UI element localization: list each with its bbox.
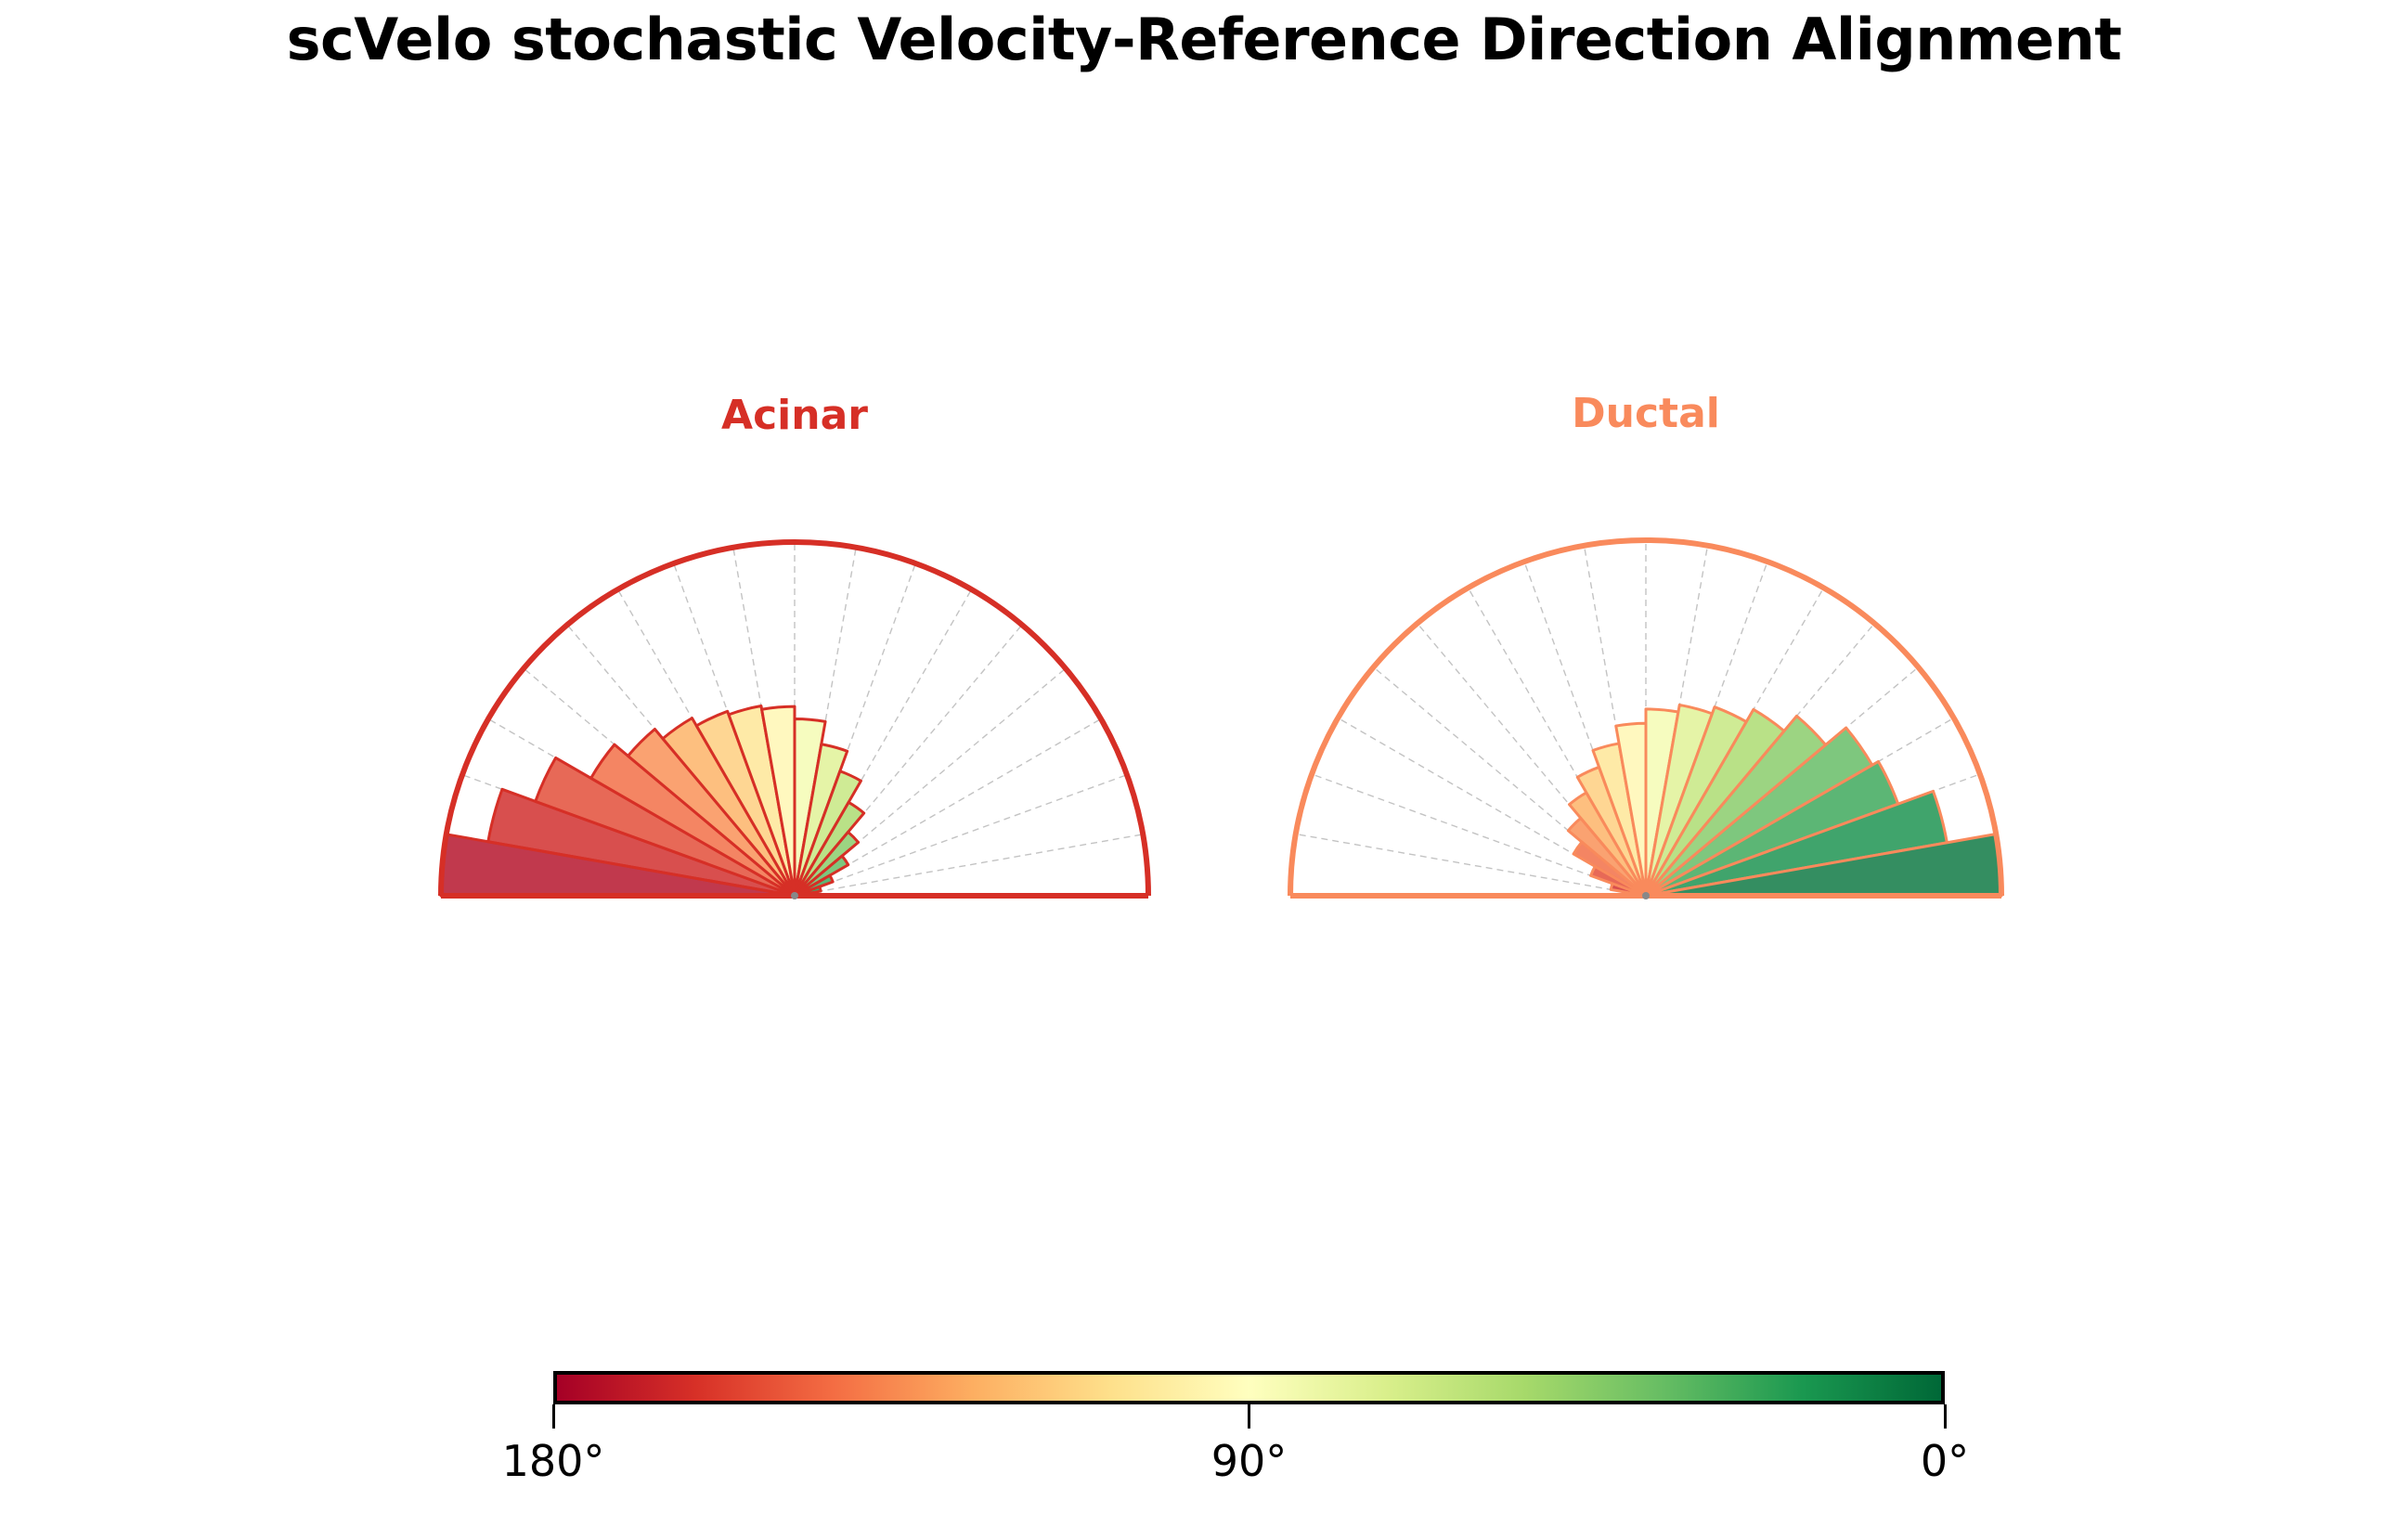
panel-title-acinar: Acinar xyxy=(404,392,1185,439)
figure-canvas: scVelo stochastic Velocity-Reference Dir… xyxy=(0,0,2408,1526)
colorbar-tick-mark xyxy=(552,1404,555,1429)
panel-title-ductal: Ductal xyxy=(1253,390,2039,437)
colorbar-tick-mark xyxy=(1248,1404,1250,1429)
colorbar-tick-label: 180° xyxy=(502,1436,605,1486)
polar-panel-acinar: Acinar xyxy=(404,505,1185,933)
polar-origin-marker xyxy=(1642,892,1650,899)
rose-chart-ductal xyxy=(1253,503,2039,933)
colorbar: 180°90°0° xyxy=(553,1371,1945,1507)
colorbar-tick-mark xyxy=(1944,1404,1947,1429)
polar-origin-marker xyxy=(791,892,798,899)
colorbar-tick-label: 0° xyxy=(1921,1436,1969,1486)
polar-panel-ductal: Ductal xyxy=(1253,503,2039,933)
page-title: scVelo stochastic Velocity-Reference Dir… xyxy=(0,6,2408,73)
rose-chart-acinar xyxy=(404,505,1185,933)
colorbar-gradient xyxy=(553,1371,1945,1404)
colorbar-tick-label: 90° xyxy=(1211,1436,1288,1486)
